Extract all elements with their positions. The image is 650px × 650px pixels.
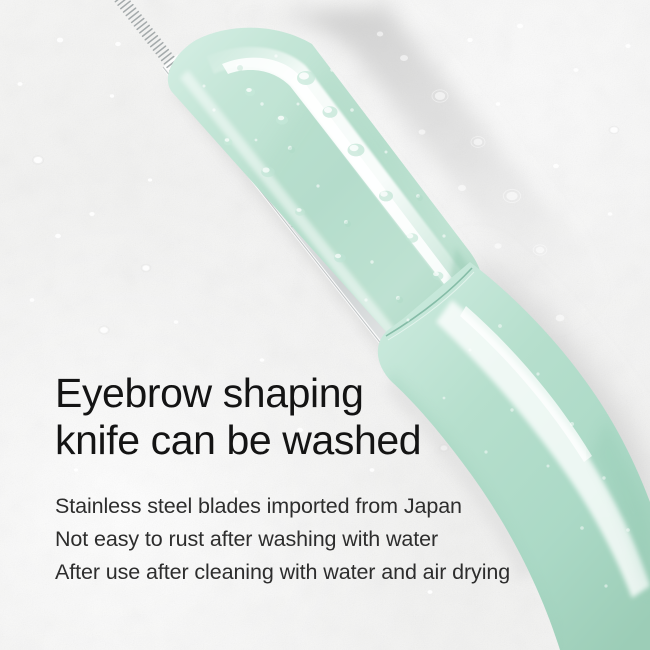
product-image-canvas: Eyebrow shaping knife can be washed Stai… bbox=[0, 0, 650, 650]
headline: Eyebrow shaping knife can be washed bbox=[55, 370, 615, 464]
feature-line-2: Not easy to rust after washing with wate… bbox=[55, 523, 615, 556]
marketing-copy: Eyebrow shaping knife can be washed Stai… bbox=[55, 370, 615, 589]
feature-line-1: Stainless steel blades imported from Jap… bbox=[55, 490, 615, 523]
feature-list: Stainless steel blades imported from Jap… bbox=[55, 490, 615, 589]
feature-line-3: After use after cleaning with water and … bbox=[55, 556, 615, 589]
